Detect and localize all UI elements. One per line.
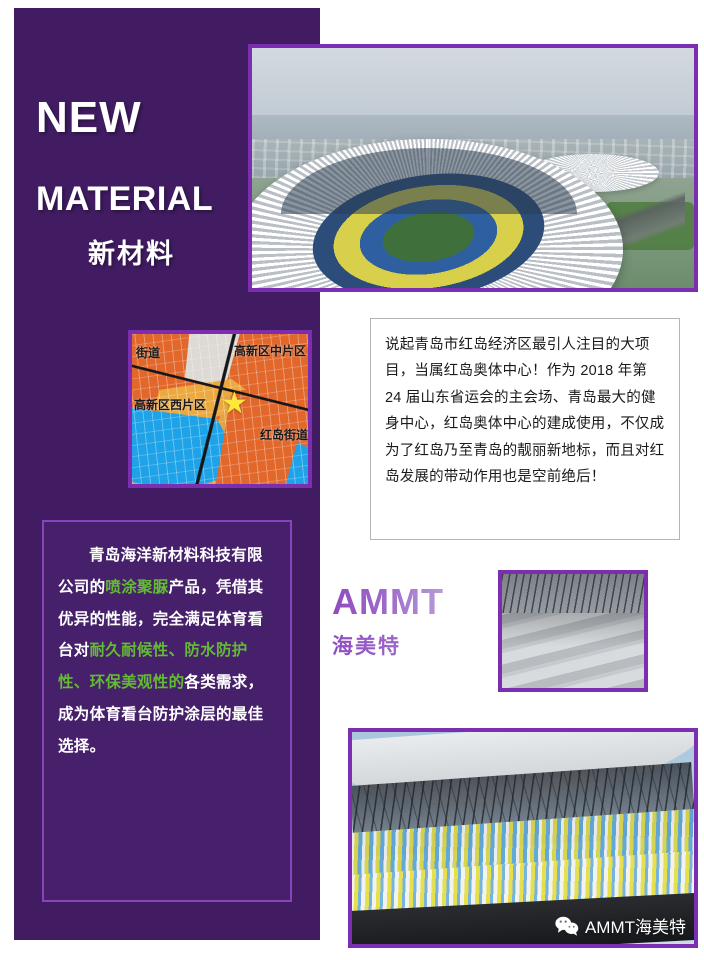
district-map-photo: 街道 高新区中片区 高新区西片区 红岛街道 [128,330,312,488]
info-text-paragraph: 说起青岛市红岛经济区最引人注目的大项目，当属红岛奥体中心！作为 2018 年第 … [385,332,665,490]
aerial-stadium-roof-shadow [281,148,577,214]
stadium-stand-photo: AMMT海美特 [348,728,698,948]
wechat-watermark-label: AMMT海美特 [585,913,686,938]
brand-logo: AMMT 海美特 [332,582,444,660]
copy-highlight-product: 喷涂聚脲 [105,579,168,596]
brand-name-en: AMMT [332,582,444,622]
stadium-seating-photo [498,570,648,692]
wechat-icon [555,916,579,936]
map-label-central-district: 高新区中片区 [234,342,306,359]
info-text-box: 说起青岛市红岛经济区最引人注目的大项目，当属红岛奥体中心！作为 2018 年第 … [370,318,680,540]
aerial-stadium-photo [248,44,698,292]
brand-name-cn: 海美特 [332,630,444,660]
product-copy-paragraph: 青岛海洋新材料科技有限公司的喷涂聚脲产品，凭借其优异的性能，完全满足体育看台对耐… [58,540,276,762]
product-copy-box: 青岛海洋新材料科技有限公司的喷涂聚脲产品，凭借其优异的性能，完全满足体育看台对耐… [42,520,292,902]
map-label-street: 街道 [136,344,160,361]
seating-concrete-tiers [502,613,644,688]
map-label-hongdao-street: 红岛街道 [260,426,308,443]
wechat-watermark: AMMT海美特 [555,913,686,938]
map-label-west-district: 高新区西片区 [134,396,206,413]
